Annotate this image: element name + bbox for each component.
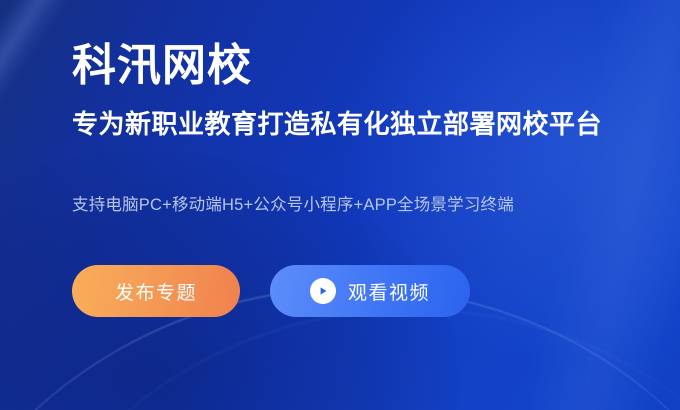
hero-content: 科汛网校 专为新职业教育打造私有化独立部署网校平台 支持电脑PC+移动端H5+公… [0, 0, 680, 317]
page-subtitle: 专为新职业教育打造私有化独立部署网校平台 [72, 89, 680, 140]
cta-button-row: 发布专题 观看视频 [72, 217, 680, 317]
play-icon [310, 278, 336, 304]
watch-video-button-label: 观看视频 [348, 278, 430, 305]
publish-topic-button-label: 发布专题 [115, 278, 197, 305]
hero-banner: 科汛网校 专为新职业教育打造私有化独立部署网校平台 支持电脑PC+移动端H5+公… [0, 0, 680, 410]
publish-topic-button[interactable]: 发布专题 [72, 265, 240, 317]
watch-video-button[interactable]: 观看视频 [270, 265, 470, 317]
page-tagline: 支持电脑PC+移动端H5+公众号小程序+APP全场景学习终端 [72, 140, 680, 217]
page-title: 科汛网校 [72, 0, 680, 89]
